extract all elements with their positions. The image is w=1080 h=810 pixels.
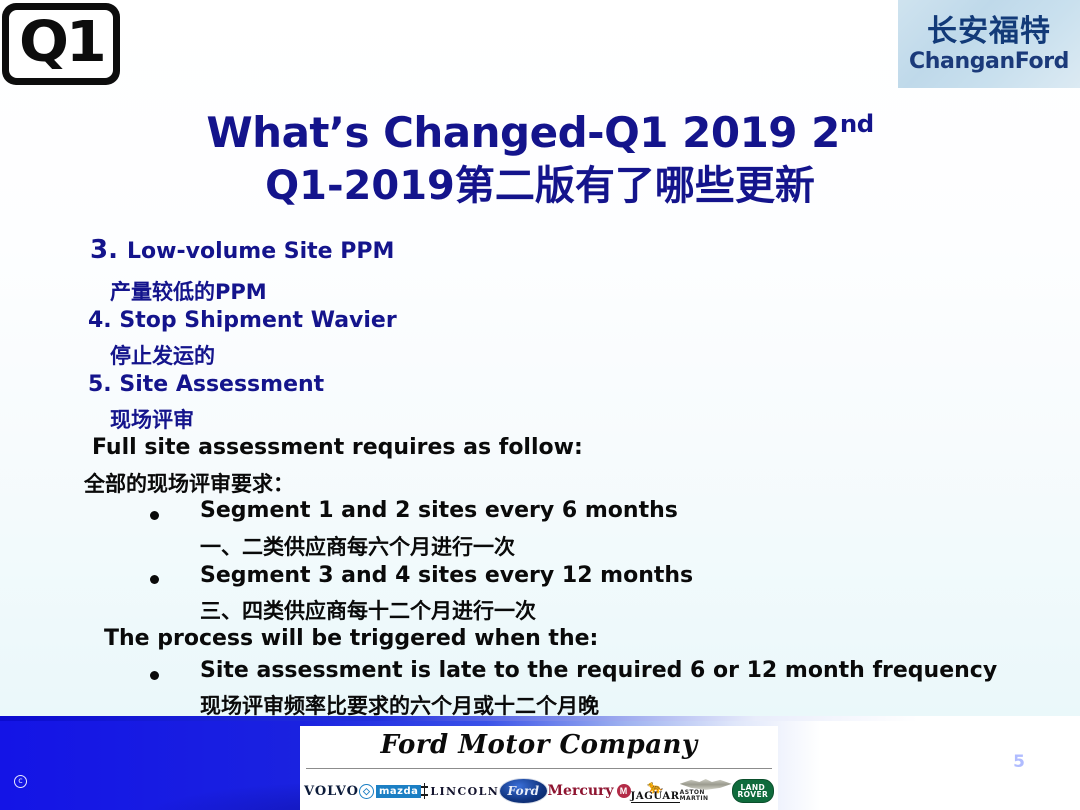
- list-item-5-number: 5.: [88, 372, 112, 397]
- list-item-3-number: 3.: [90, 235, 118, 265]
- volvo-logo: VOLVO: [304, 779, 359, 803]
- list-item-4: 4. Stop Shipment Wavier: [88, 308, 397, 333]
- bullet-dot: [150, 671, 159, 680]
- bullet-1-chinese: 一、二类供应商每六个月进行一次: [200, 531, 515, 561]
- land-rover-logo-label-bottom: ROVER: [738, 791, 769, 799]
- copyright-icon: c: [14, 775, 27, 788]
- ford-oval-logo: Ford: [499, 778, 547, 804]
- mazda-mark-icon: ◇: [359, 784, 374, 799]
- title-chinese: Q1-2019第二版有了哪些更新: [0, 161, 1080, 211]
- land-rover-logo: LAND ROVER: [732, 779, 774, 803]
- bullet-dot: [150, 511, 159, 520]
- title-english-superscript: nd: [840, 109, 874, 138]
- list-item-3: 3. Low-volume Site PPM: [90, 235, 394, 265]
- aston-martin-logo-label: ASTON MARTIN: [680, 790, 732, 803]
- list-item-3-chinese: 产量较低的PPM: [110, 276, 267, 306]
- mercury-logo: Mercury M: [548, 779, 631, 803]
- changan-ford-english: ChanganFord: [909, 49, 1069, 75]
- mercury-logo-label: Mercury: [548, 783, 614, 799]
- jaguar-logo-label: JAGUAR: [631, 792, 680, 803]
- list-item-5-chinese: 现场评审: [110, 404, 194, 434]
- ford-motor-company-name: Ford Motor Company: [300, 730, 778, 760]
- q1-logo: Q1: [2, 3, 120, 85]
- title-block: What’s Changed-Q1 2019 2nd Q1-2019第二版有了哪…: [0, 107, 1080, 211]
- lincoln-logo: LINCOLN: [421, 779, 499, 803]
- lincoln-mark-icon: [421, 783, 428, 799]
- jaguar-logo: 🐆 JAGUAR: [631, 779, 680, 803]
- body-content: 3. Low-volume Site PPM 产量较低的PPM 4. Stop …: [0, 235, 1080, 715]
- ford-motor-company-panel: Ford Motor Company VOLVO ◇ mazda LINCOLN…: [300, 726, 778, 810]
- brand-logo-row: VOLVO ◇ mazda LINCOLN Ford Mercury M 🐆 J…: [304, 776, 774, 806]
- mazda-logo-label: mazda: [376, 785, 421, 798]
- title-english-main: What’s Changed-Q1 2019 2: [206, 108, 840, 157]
- bullet-2-chinese: 三、四类供应商每十二个月进行一次: [200, 595, 536, 625]
- statement-2-english: The process will be triggered when the:: [104, 626, 598, 651]
- list-item-3-english: Low-volume Site PPM: [127, 239, 394, 264]
- list-item-4-number: 4.: [88, 308, 112, 333]
- list-item-5-english: Site Assessment: [119, 372, 324, 397]
- slide-canvas: Q1 长安福特 ChanganFord What’s Changed-Q1 20…: [0, 0, 1080, 810]
- jaguar-leaper-icon: 🐆: [647, 780, 663, 792]
- list-item-5: 5. Site Assessment: [88, 372, 324, 397]
- list-item-4-english: Stop Shipment Wavier: [119, 308, 396, 333]
- statement-1-english: Full site assessment requires as follow:: [92, 435, 583, 460]
- title-english: What’s Changed-Q1 2019 2nd: [0, 107, 1080, 159]
- list-item-4-chinese: 停止发运的: [110, 340, 215, 370]
- bullet-1-english: Segment 1 and 2 sites every 6 months: [200, 498, 678, 523]
- q1-logo-inner: Q1: [9, 10, 113, 78]
- copyright-notice: c: [14, 775, 32, 788]
- bullet-2-english: Segment 3 and 4 sites every 12 months: [200, 563, 693, 588]
- q1-logo-label: Q1: [19, 15, 104, 74]
- bullet-dot: [150, 575, 159, 584]
- volvo-logo-label: VOLVO: [304, 784, 359, 799]
- changan-ford-logo: 长安福特 ChanganFord: [898, 0, 1080, 88]
- ford-panel-divider: [306, 768, 772, 769]
- changan-ford-chinese: 长安福特: [927, 15, 1051, 49]
- lincoln-logo-label: LINCOLN: [430, 785, 499, 798]
- mazda-logo: ◇ mazda: [359, 779, 421, 803]
- mercury-mark-icon: M: [617, 784, 631, 798]
- aston-martin-logo: ASTON MARTIN: [680, 779, 732, 803]
- ford-oval-label: Ford: [508, 784, 540, 798]
- statement-1-chinese: 全部的现场评审要求：: [84, 468, 294, 498]
- page-number: 5: [1013, 752, 1025, 772]
- bullet-3-english: Site assessment is late to the required …: [200, 658, 997, 683]
